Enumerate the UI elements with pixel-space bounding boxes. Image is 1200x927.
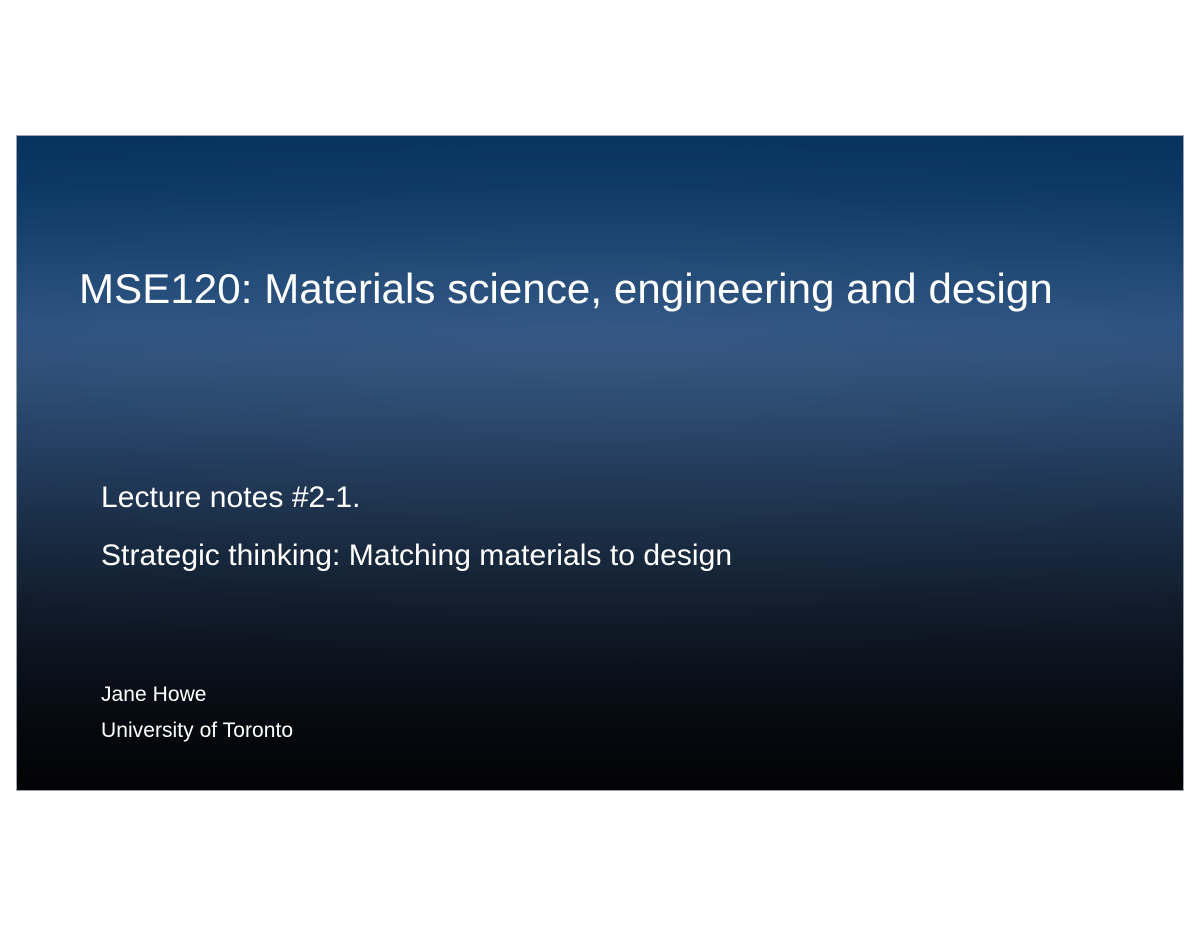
slide-body-placeholder[interactable]: Lecture notes #2-1. Strategic thinking: … bbox=[101, 469, 1111, 585]
body-line-subtitle: Strategic thinking: Matching materials t… bbox=[101, 527, 1111, 585]
author-placeholder[interactable]: Jane Howe University of Toronto bbox=[101, 677, 801, 749]
author-name: Jane Howe bbox=[101, 677, 801, 713]
author-affiliation: University of Toronto bbox=[101, 713, 801, 749]
presentation-slide[interactable]: MSE120: Materials science, engineering a… bbox=[16, 135, 1184, 791]
page-title: MSE120: Materials science, engineering a… bbox=[79, 265, 1053, 312]
slide-title-placeholder[interactable]: MSE120: Materials science, engineering a… bbox=[79, 252, 1129, 326]
page-root: MSE120: Materials science, engineering a… bbox=[0, 0, 1200, 927]
body-line-lecture-notes: Lecture notes #2-1. bbox=[101, 469, 1111, 527]
